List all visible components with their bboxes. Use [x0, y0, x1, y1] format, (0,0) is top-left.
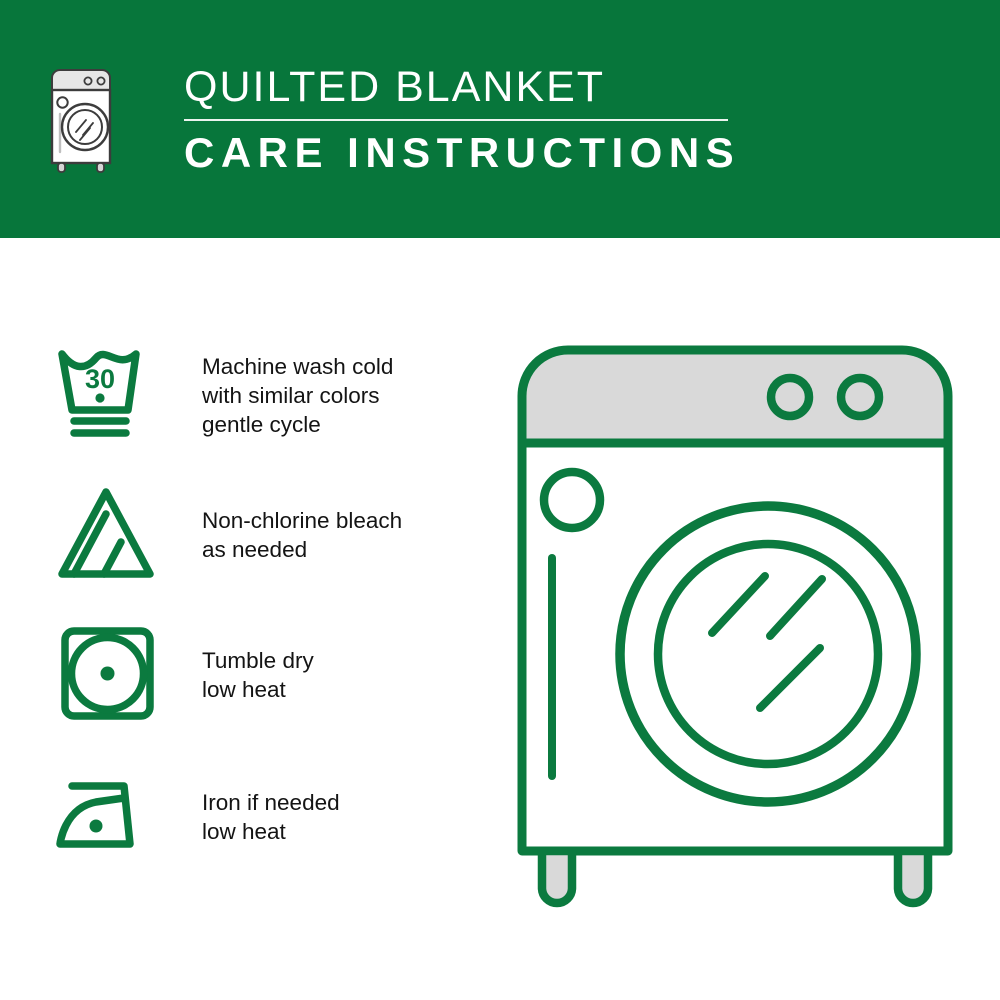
- iron-low-heat-icon: [52, 770, 162, 880]
- care-text-tumble-dry: Tumble dry low heat: [202, 646, 492, 704]
- care-text-line: as needed: [202, 535, 492, 564]
- wash-temperature-value: 30: [85, 364, 115, 394]
- care-text-line: Tumble dry: [202, 646, 492, 675]
- page-subtitle: CARE INSTRUCTIONS: [184, 127, 744, 179]
- header-banner: QUILTED BLANKET CARE INSTRUCTIONS: [0, 0, 1000, 238]
- washing-machine-icon: [44, 64, 116, 176]
- care-row-bleach: Non-chlorine bleach as needed: [44, 476, 484, 616]
- care-instruction-list: 30 Machine wash cold with similar colors…: [44, 336, 484, 896]
- machine-body: [522, 443, 948, 851]
- care-instructions-infographic: QUILTED BLANKET CARE INSTRUCTIONS 30: [0, 0, 1000, 1000]
- leg-right: [898, 851, 928, 903]
- care-row-wash: 30 Machine wash cold with similar colors…: [44, 336, 484, 476]
- care-text-line: low heat: [202, 817, 492, 846]
- care-row-tumble-dry: Tumble dry low heat: [44, 616, 484, 756]
- care-row-iron: Iron if needed low heat: [44, 756, 484, 896]
- title-divider: [184, 119, 728, 121]
- care-text-line: gentle cycle: [202, 410, 492, 439]
- control-panel: [522, 350, 948, 443]
- care-text-bleach: Non-chlorine bleach as needed: [202, 506, 492, 564]
- care-text-iron: Iron if needed low heat: [202, 788, 492, 846]
- care-text-wash: Machine wash cold with similar colors ge…: [202, 352, 492, 439]
- care-text-line: Machine wash cold: [202, 352, 492, 381]
- care-text-line: low heat: [202, 675, 492, 704]
- header-content: QUILTED BLANKET CARE INSTRUCTIONS: [44, 62, 956, 188]
- front-load-washing-machine-illustration: [500, 336, 970, 926]
- care-text-line: Iron if needed: [202, 788, 492, 817]
- machine-wash-30-gentle-icon: 30: [52, 336, 162, 446]
- tumble-dry-low-heat-icon: [56, 620, 166, 730]
- header-title-block: QUILTED BLANKET CARE INSTRUCTIONS: [184, 62, 744, 179]
- care-text-line: with similar colors: [202, 381, 492, 410]
- page-title: QUILTED BLANKET: [184, 62, 744, 112]
- care-text-line: Non-chlorine bleach: [202, 506, 492, 535]
- leg-left: [542, 851, 572, 903]
- non-chlorine-bleach-triangle-icon: [54, 480, 164, 590]
